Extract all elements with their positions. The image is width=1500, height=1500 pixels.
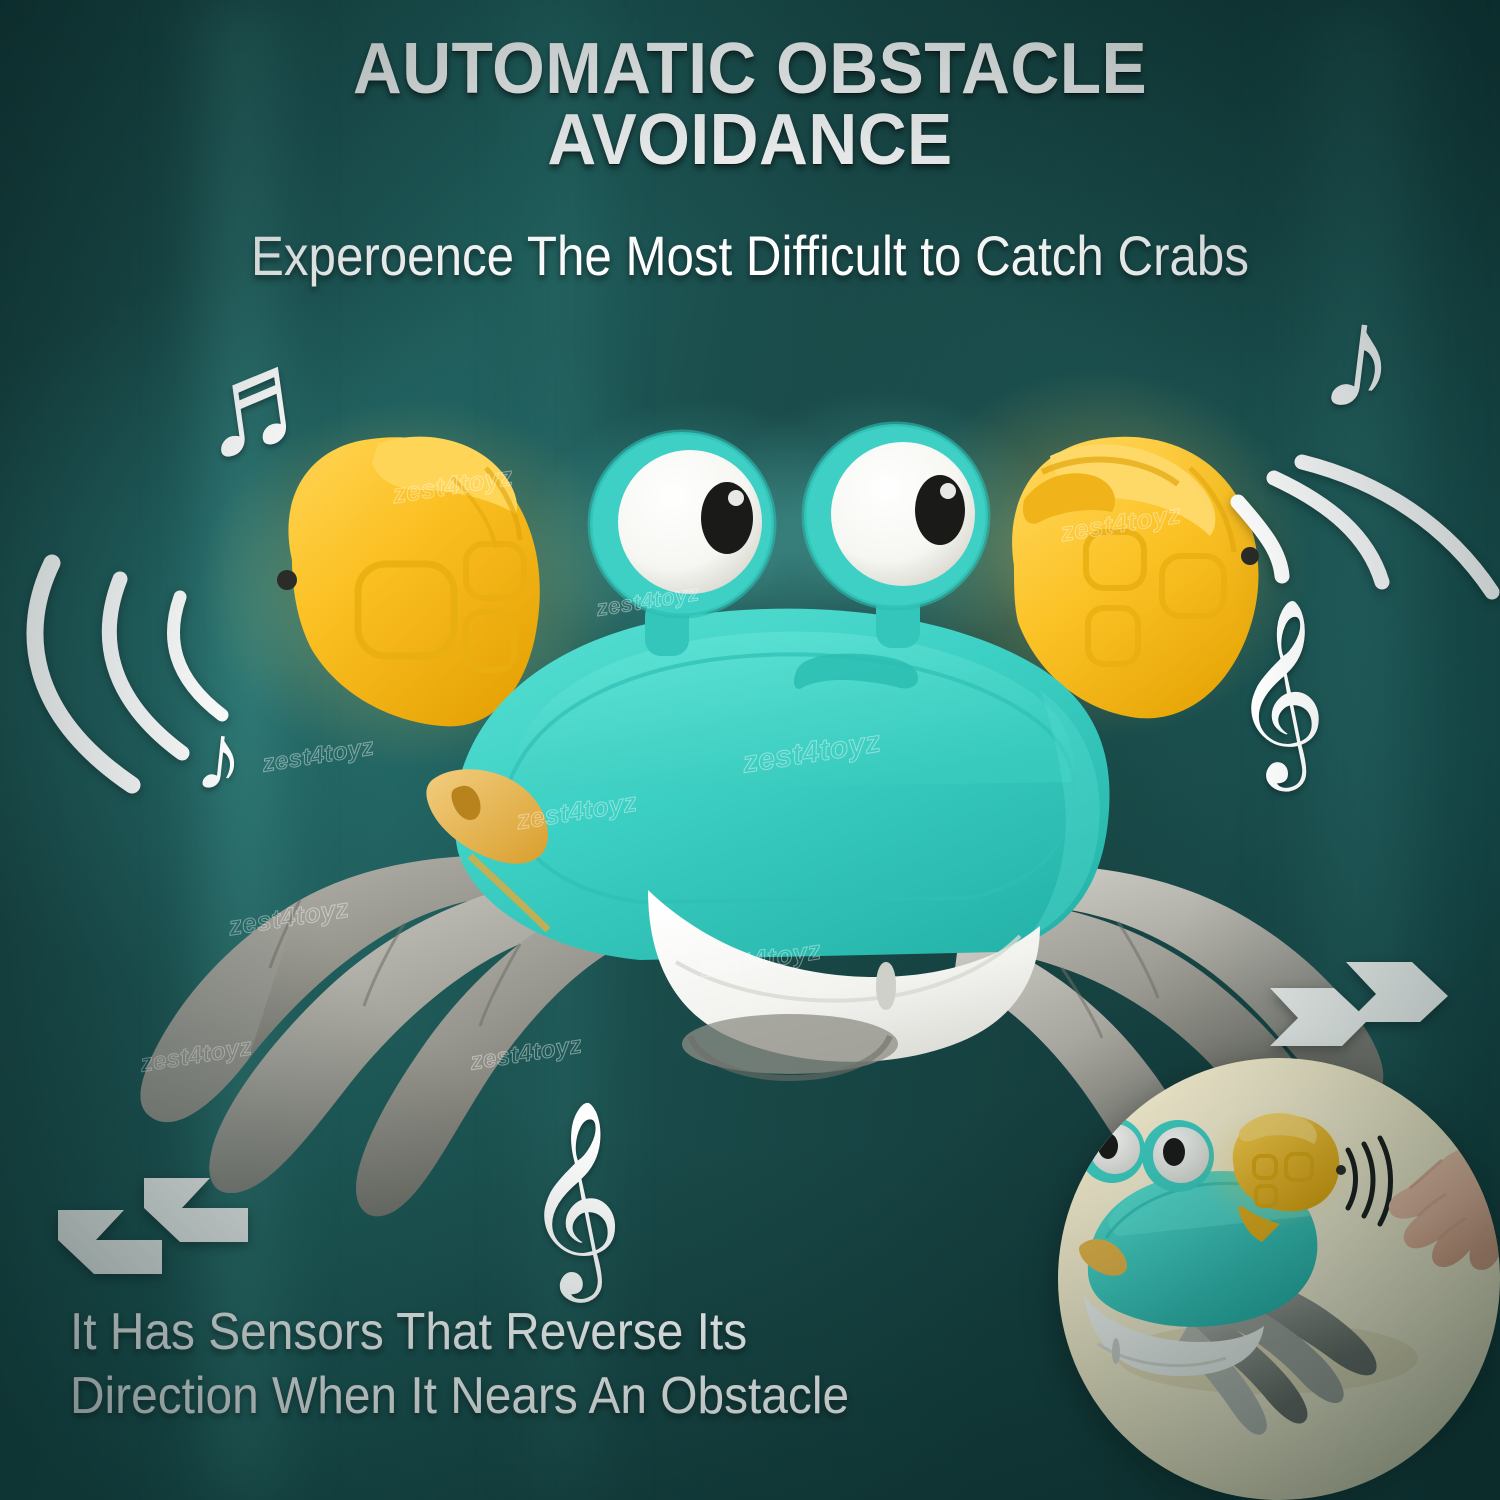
treble-clef-center-icon: 𝄞 (524, 1112, 623, 1280)
sound-waves-left-icon (14, 545, 254, 815)
watermark-zest4toyz: zest4toyz (514, 787, 639, 837)
crab-eyes (590, 424, 988, 656)
feature-caption: It Has Sensors That Reverse Its Directio… (70, 1300, 898, 1429)
caption-line-2: Direction When It Nears An Obstacle (70, 1364, 898, 1428)
direction-arrows-right-icon (1262, 950, 1462, 1060)
watermark-zest4toyz: zest4toyz (740, 725, 883, 780)
headline-line-1: AUTOMATIC OBSTACLE (45, 34, 1455, 105)
music-note-sixteenth-icon: ♬ (187, 321, 345, 479)
crab-claw-left (277, 437, 540, 727)
watermark-zest4toyz: zest4toyz (595, 580, 701, 622)
watermark-zest4toyz: zest4toyz (469, 1031, 585, 1076)
child-hand (1389, 1144, 1500, 1270)
watermark-zest4toyz: zest4toyz (261, 733, 377, 778)
sensor-waves-icon (1348, 1138, 1391, 1224)
direction-arrows-left-icon (48, 1168, 258, 1286)
watermark-zest4toyz: zest4toyz (139, 1033, 255, 1078)
crab-claw-right (1012, 437, 1259, 719)
subtitle: Experoence The Most Difficult to Catch C… (90, 228, 1410, 284)
crab-shell-body (426, 609, 1109, 1078)
caption-line-1: It Has Sensors That Reverse Its (70, 1300, 898, 1364)
watermark-zest4toyz: zest4toyz (1058, 499, 1183, 549)
watermark-zest4toyz: zest4toyz (226, 893, 351, 943)
motion-lines-right-icon (1230, 440, 1500, 670)
headline-line-2: AVOIDANCE (45, 105, 1455, 176)
music-note-eighth-large-icon: ♪ (1313, 278, 1406, 436)
watermark-zest4toyz: zest4toyz (390, 461, 515, 511)
page-title: AUTOMATIC OBSTACLE AVOIDANCE (45, 34, 1455, 175)
inset-crab-eyes (1079, 1117, 1214, 1192)
watermark-zest4toyz: zest4toyz (698, 935, 823, 985)
inset-demo-circle (1058, 1058, 1500, 1500)
product-feature-image: zest4toyzzest4toyzzest4toyzzest4toyzzest… (0, 0, 1500, 1500)
